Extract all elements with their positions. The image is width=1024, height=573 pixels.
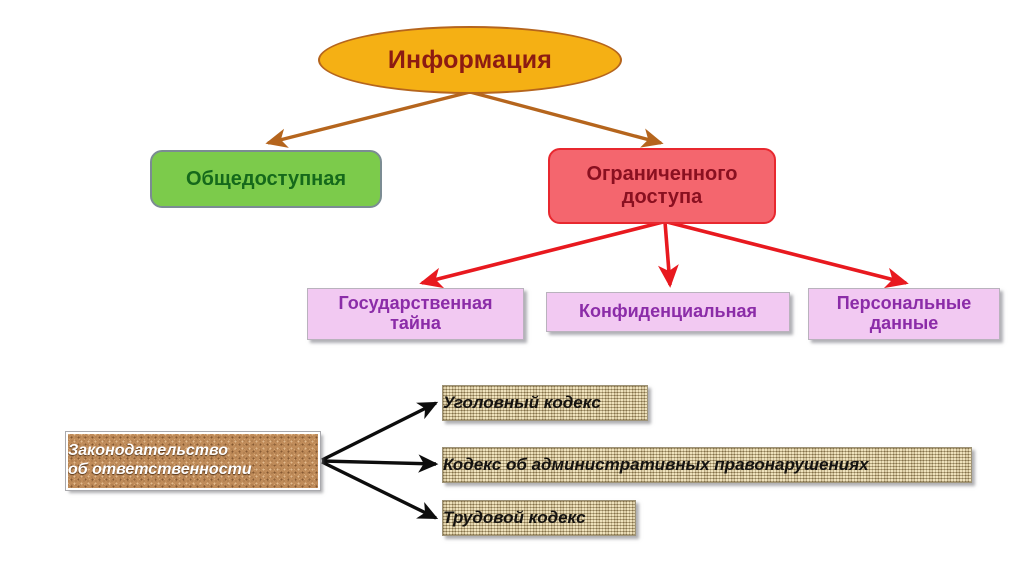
node-administrative-offences-code-label: Кодекс об административных правонарушени… [443, 455, 971, 475]
diagram-canvas: Информация Общедоступная Ограниченного д… [0, 0, 1024, 573]
node-legislation[interactable]: Законодательство об ответственности [66, 432, 320, 490]
node-state-secret[interactable]: Государственная тайна [307, 288, 524, 340]
node-information-label: Информация [388, 46, 552, 75]
node-criminal-code[interactable]: Уголовный кодекс [442, 385, 648, 421]
node-information[interactable]: Информация [318, 26, 622, 94]
node-personal-data-label-line1: Персональные [837, 293, 972, 313]
node-legislation-label-line1: Законодательство [68, 442, 228, 459]
arrow-restricted-to-state-secret [422, 222, 663, 283]
arrow-restricted-to-confidential [665, 222, 670, 285]
node-confidential-label: Конфиденциальная [579, 302, 757, 322]
node-confidential[interactable]: Конфиденциальная [546, 292, 790, 332]
node-administrative-offences-code[interactable]: Кодекс об административных правонарушени… [442, 447, 972, 483]
arrow-legislation-to-criminal-code [322, 403, 436, 460]
node-restricted-label-line2: доступа [622, 186, 702, 208]
node-labour-code-label: Трудовой кодекс [443, 508, 635, 528]
node-restricted-label: Ограниченного доступа [587, 163, 738, 209]
node-labour-code[interactable]: Трудовой кодекс [442, 500, 636, 536]
arrow-info-to-restricted [470, 92, 661, 143]
node-personal-data-label: Персональные данные [837, 294, 972, 334]
node-restricted-label-line1: Ограниченного [587, 163, 738, 185]
arrow-restricted-to-personal-data [667, 222, 906, 283]
node-personal-data[interactable]: Персональные данные [808, 288, 1000, 340]
node-public-label: Общедоступная [186, 168, 346, 191]
node-criminal-code-label: Уголовный кодекс [443, 393, 647, 413]
node-state-secret-label: Государственная тайна [339, 294, 493, 334]
node-legislation-label: Законодательство об ответственности [68, 442, 318, 480]
arrow-legislation-to-labour-code [322, 462, 436, 518]
arrow-legislation-to-administrative-offences-code [322, 461, 436, 464]
node-state-secret-label-line2: тайна [390, 313, 441, 333]
node-personal-data-label-line2: данные [870, 313, 939, 333]
arrow-info-to-public [268, 92, 470, 143]
node-legislation-label-line2: об ответственности [68, 461, 252, 478]
node-state-secret-label-line1: Государственная [339, 293, 493, 313]
node-restricted[interactable]: Ограниченного доступа [548, 148, 776, 224]
node-public[interactable]: Общедоступная [150, 150, 382, 208]
